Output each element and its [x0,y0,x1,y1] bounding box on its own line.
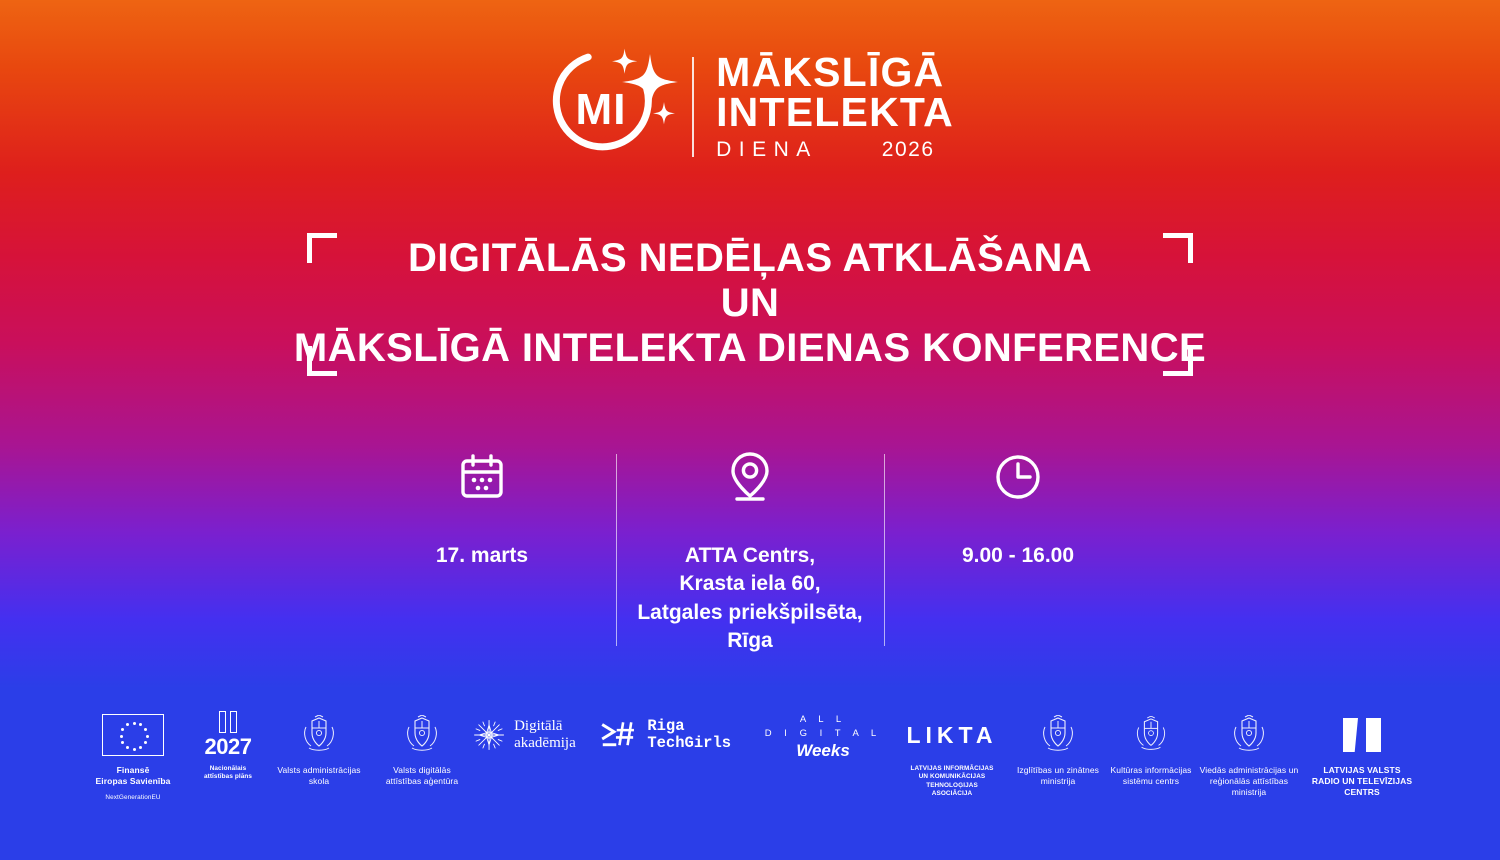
logo-year: 2026 [882,138,935,162]
svg-text:MI: MI [576,85,627,134]
partner-label: Kultūras informācijas sistēmu centrs [1111,765,1192,787]
event-time-value: 9.00 - 16.00 [962,542,1074,570]
adw-line-1: A L L [765,713,881,727]
logo-wordmark: MĀKSLĪGĀ INTELEKTA DIENA 2026 [716,52,954,162]
latvia-coat-of-arms-icon [404,712,440,758]
map-pin-icon [727,448,773,506]
partner-all-digital-weeks: A L L D I G I T A L Weeks [753,690,893,764]
latvia-coat-of-arms-icon [1134,712,1168,758]
partner-eu-funding: Finansē Eiropas Savienība NextGeneration… [77,690,189,802]
partner-valsts-digitalas-attistibas-agentura: Valsts digitālās attīstības aģentūra [371,690,473,787]
event-poster: MI MĀKSLĪGĀ INTELEKTA DIENA 2026 DIGITĀL… [0,0,1500,860]
headline-text: DIGITĀLĀS NEDĒĻAS ATKLĀŠANA UN MĀKSLĪGĀ … [0,228,1500,372]
partner-valsts-administracijas-skola: Valsts administrācijas skola [267,690,371,787]
partner-label: Digitālā akadēmija [514,718,601,752]
nap-bars-icon: 2027 [205,712,252,758]
latvia-coat-of-arms-icon [1231,712,1267,758]
partner-label: Viedās administrācijas un reģionālās att… [1200,765,1299,798]
partner-izglitibas-un-zinatnes-ministrija: Izglītības un zinātnes ministrija [1011,690,1105,787]
likta-wordmark: LIKTA [906,712,997,758]
partner-likta: LIKTA LATVIJAS INFORMĀCIJAS UN KOMUNIKĀC… [893,690,1011,798]
event-date: 17. marts [349,448,616,570]
partner-sublabel: NextGenerationEU [105,794,160,802]
adw-line-3: Weeks [765,740,881,763]
headline-line-3: MĀKSLĪGĀ INTELEKTA DIENAS KONFERENCE [0,326,1500,371]
partner-label: Valsts administrācijas skola [277,765,360,787]
starburst-icon [473,714,505,756]
partner-digitala-akademija: Digitālā akadēmija [473,690,601,758]
brand-logo-lockup: MI MĀKSLĪGĀ INTELEKTA DIENA 2026 [0,46,1500,168]
logo-line-1: MĀKSLĪGĀ [716,52,954,92]
partner-riga-techgirls: Riga TechGirls [601,690,753,758]
headline-block: DIGITĀLĀS NEDĒĻAS ATKLĀŠANA UN MĀKSLĪGĀ … [0,228,1500,393]
partner-label: LATVIJAS INFORMĀCIJAS UN KOMUNIKĀCIJAS T… [893,765,1011,798]
event-location-value: ATTA Centrs, Krasta iela 60, Latgales pr… [637,542,862,655]
latvia-coat-of-arms-icon [301,712,337,758]
partner-label: Riga TechGirls [647,718,753,751]
event-date-value: 17. marts [436,542,528,570]
partner-kulturas-informacijas-sistemu-centrs: Kultūras informācijas sistēmu centrs [1105,690,1197,787]
corner-bracket-bottom-left [307,346,337,376]
event-time: 9.00 - 16.00 [885,448,1152,570]
all-digital-weeks-logo: A L L D I G I T A L Weeks [765,712,881,764]
latvia-coat-of-arms-icon [1040,712,1076,758]
likta-word: LIKTA [906,722,997,749]
partner-label: Izglītības un zinātnes ministrija [1017,765,1099,787]
partner-logos-row: Finansē Eiropas Savienība NextGeneration… [0,690,1500,860]
event-details-row: 17. marts ATTA Centrs, Krasta iela 60, L… [0,448,1500,655]
partner-label: Valsts digitālās attīstības aģentūra [386,765,458,787]
logo-line-3: DIENA [716,138,818,162]
calendar-icon [459,448,505,506]
headline-line-1: DIGITĀLĀS NEDĒĻAS ATKLĀŠANA [0,236,1500,281]
nap-year: 2027 [205,734,252,760]
event-location: ATTA Centrs, Krasta iela 60, Latgales pr… [617,448,884,655]
partner-viedas-administracijas-ministrija: Viedās administrācijas un reģionālās att… [1197,690,1301,798]
lvrtc-mark-icon [1343,712,1381,758]
riga-techgirls-logo: Riga TechGirls [601,712,753,758]
partner-label: Finansē Eiropas Savienība [96,765,171,787]
partner-label: Nacionālais attīstības plāns [204,765,252,782]
headline-line-2: UN [0,281,1500,326]
logo-line-2: INTELEKTA [716,92,954,132]
eu-flag-icon [102,712,164,758]
logo-divider [692,57,694,157]
clock-icon [994,448,1042,506]
mi-logo-mark: MI [546,46,686,168]
partner-label: LATVIJAS VALSTS RADIO UN TELEVĪZIJAS CEN… [1301,765,1423,798]
corner-bracket-top-left [307,233,337,263]
partner-lvrtc: LATVIJAS VALSTS RADIO UN TELEVĪZIJAS CEN… [1301,690,1423,798]
corner-bracket-top-right [1163,233,1193,263]
partner-nacionalais-attistibas-plans: 2027 Nacionālais attīstības plāns [189,690,267,782]
adw-line-2: D I G I T A L [765,727,881,741]
digitala-akademija-logo: Digitālā akadēmija [473,712,601,758]
corner-bracket-bottom-right [1163,346,1193,376]
prompt-hash-icon [601,716,638,754]
